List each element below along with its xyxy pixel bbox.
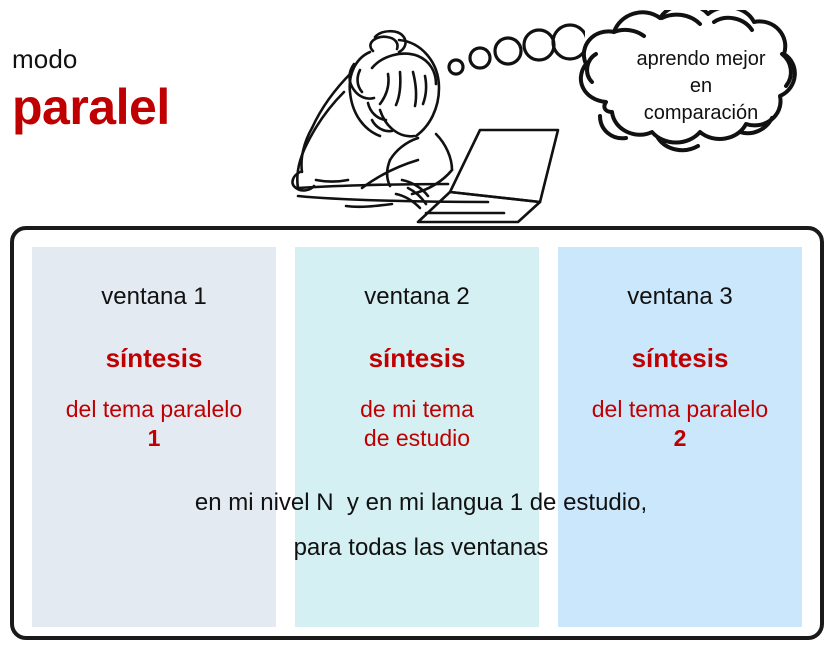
cloud-line-3: comparación <box>608 100 794 127</box>
title-block: modo paralel <box>12 44 272 134</box>
window-columns: ventana 1 síntesis del tema paralelo 1 v… <box>32 247 802 627</box>
window-2-subtitle-line-2: de estudio <box>295 424 539 453</box>
window-2-subtitle: de mi tema de estudio <box>295 395 539 453</box>
window-2-synthesis-label: síntesis <box>295 343 539 373</box>
window-3-heading: ventana 3 <box>558 283 802 311</box>
parallel-mode-panel: ventana 1 síntesis del tema paralelo 1 v… <box>10 226 824 640</box>
mode-label: modo <box>12 44 272 74</box>
mode-name: paralel <box>12 80 272 134</box>
thought-dots <box>440 18 585 88</box>
window-3-synthesis-label: síntesis <box>558 343 802 373</box>
window-3-subtitle-line-2: 2 <box>558 424 802 453</box>
window-column-3[interactable]: ventana 3 síntesis del tema paralelo 2 <box>558 247 802 627</box>
window-2-subtitle-line-1: de mi tema <box>295 395 539 424</box>
cloud-line-1: aprendo mejor <box>608 46 794 73</box>
thought-cloud-text: aprendo mejor en comparación <box>608 46 794 127</box>
window-3-subtitle-line-1: del tema paralelo <box>558 395 802 424</box>
header-area: modo paralel <box>0 0 834 226</box>
window-column-2[interactable]: ventana 2 síntesis de mi tema de estudio <box>295 247 539 627</box>
window-1-heading: ventana 1 <box>32 283 276 311</box>
window-1-synthesis-label: síntesis <box>32 343 276 373</box>
thought-cloud: aprendo mejor en comparación <box>566 10 834 168</box>
window-1-subtitle-line-1: del tema paralelo <box>32 395 276 424</box>
window-1-subtitle-line-2: 1 <box>32 424 276 453</box>
cloud-line-2: en <box>608 73 794 100</box>
window-3-subtitle: del tema paralelo 2 <box>558 395 802 453</box>
window-column-1[interactable]: ventana 1 síntesis del tema paralelo 1 <box>32 247 276 627</box>
window-1-subtitle: del tema paralelo 1 <box>32 395 276 453</box>
window-2-heading: ventana 2 <box>295 283 539 311</box>
